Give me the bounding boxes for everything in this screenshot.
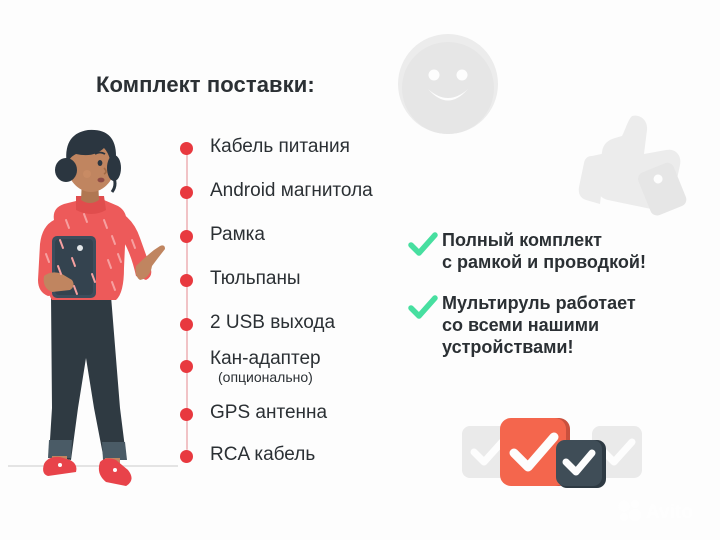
benefit-line-3: устройствами! <box>442 336 636 358</box>
thumbs-up-icon <box>570 108 692 220</box>
bullet-dot <box>180 142 193 155</box>
smiley-face-icon <box>396 32 500 136</box>
benefit-text: Мультируль работает со всеми нашими устр… <box>442 292 636 358</box>
avito-watermark: Avito <box>616 497 712 523</box>
bullet-dot <box>180 230 193 243</box>
list-item-label: GPS антенна <box>210 402 327 424</box>
benefit-line-1: Мультируль работает <box>442 292 636 314</box>
woman-with-tablet-illustration <box>8 108 178 508</box>
checkbox-dark <box>556 440 606 488</box>
benefit-line-2: с рамкой и проводкой! <box>442 251 646 273</box>
bullet-dot <box>180 450 193 463</box>
list-item-label: RCA кабель <box>210 444 315 466</box>
list-item-label: Android магнитола <box>210 180 373 202</box>
list-item-label: Тюльпаны <box>210 268 301 290</box>
list-item-label: Кабель питания <box>210 136 350 158</box>
list-item-sublabel: (опционально) <box>218 369 313 385</box>
checkbox-cluster-icon <box>462 412 642 492</box>
bullet-dot <box>180 360 193 373</box>
page-title: Комплект поставки: <box>96 72 315 98</box>
benefit-line-2: со всеми нашими <box>442 314 636 336</box>
bullet-dot <box>180 408 193 421</box>
green-check-icon <box>408 295 438 321</box>
bullet-dot <box>180 274 193 287</box>
promo-image: Комплект поставки: Кабель питания Androi… <box>0 0 720 540</box>
green-check-icon <box>408 232 438 258</box>
avito-wordmark: Avito <box>646 502 693 523</box>
list-item-label: 2 USB выхода <box>210 312 335 334</box>
list-item-label: Рамка <box>210 224 265 246</box>
bullet-dot <box>180 186 193 199</box>
list-item-label: Кан-адаптер <box>210 348 321 370</box>
bullet-dot <box>180 318 193 331</box>
benefit-text: Полный комплект с рамкой и проводкой! <box>442 229 646 273</box>
benefit-line-1: Полный комплект <box>442 229 646 251</box>
